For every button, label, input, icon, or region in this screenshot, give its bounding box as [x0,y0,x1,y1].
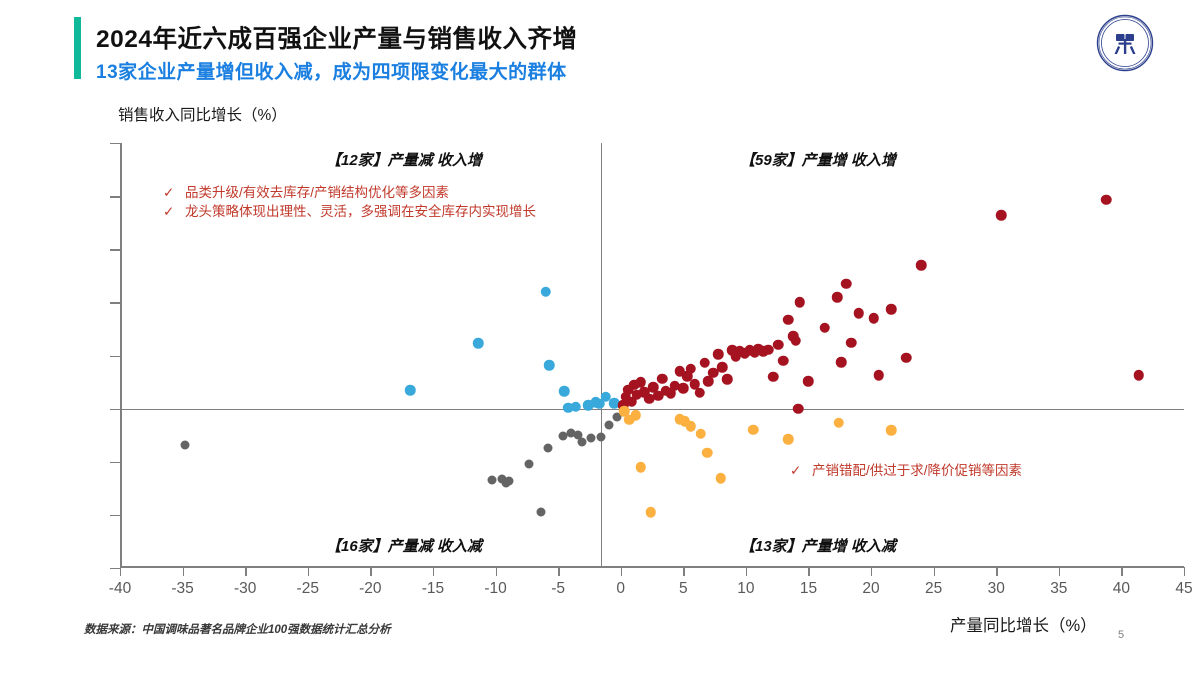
x-axis-title: 产量同比增长（%） [950,612,1097,636]
x-tick-label: 5 [679,580,688,598]
data-point [713,349,724,360]
data-point [901,352,912,363]
data-point [916,260,927,271]
data-point [473,338,484,349]
annotation-line: ✓龙头策略体现出理性、灵活，多强调在安全库存内实现增长 [163,202,536,221]
x-tick [183,567,184,576]
data-point [794,297,805,308]
x-tick-label: -10 [484,580,506,598]
data-point [645,507,656,518]
x-tick-label: 35 [1050,580,1067,598]
y-tick [110,302,120,303]
y-tick [110,462,120,463]
data-point [773,340,784,351]
data-point [702,447,713,458]
x-tick-label: -30 [234,580,256,598]
data-point [630,410,641,421]
annotation-line: ✓品类升级/有效去库存/产销结构优化等多因素 [163,183,536,202]
x-tick [1121,567,1122,576]
x-tick [808,567,809,576]
data-point [768,372,779,383]
x-tick [308,567,309,576]
quadrant-label-top-right: 【59家】产量增 收入增 [740,149,896,170]
x-tick-label: -25 [297,580,319,598]
x-tick-label: 0 [616,580,625,598]
data-point [783,315,794,326]
check-icon: ✓ [163,202,185,221]
data-point [819,323,830,334]
data-point [846,338,857,349]
data-point [717,362,728,373]
zero-horizontal-line [120,409,1184,410]
x-tick [1059,567,1060,576]
x-tick-label: 30 [988,580,1005,598]
x-tick [370,567,371,576]
x-tick-label: -15 [422,580,444,598]
data-point [540,287,551,298]
data-point [657,374,668,385]
x-tick [746,567,747,576]
data-point [722,374,733,385]
data-point [596,433,605,442]
data-point [605,421,614,430]
quadrant-label-bottom-right: 【13家】产量增 收入减 [740,535,896,556]
data-point [886,425,897,436]
check-icon: ✓ [163,183,185,202]
annotation-text: 品类升级/有效去库存/产销结构优化等多因素 [185,185,449,200]
data-point [833,418,844,429]
x-tick [996,567,997,576]
x-tick-label: -20 [359,580,381,598]
title-accent-bar [74,17,81,79]
x-tick-label: -35 [171,580,193,598]
data-point [783,434,794,445]
data-point [763,344,774,355]
y-tick [110,249,120,250]
data-point [487,475,496,484]
data-point [716,473,727,484]
data-point [635,377,646,388]
data-point [525,460,534,469]
x-tick-label: 45 [1175,580,1192,598]
y-tick [110,196,120,197]
data-point [536,507,545,516]
data-point [832,292,843,303]
data-point [181,441,190,450]
x-tick-label: -40 [109,580,131,598]
quadrant-label-top-left: 【12家】产量减 收入增 [326,149,482,170]
data-point [559,386,570,397]
x-tick-label: -5 [551,580,565,598]
annotation-bottom-right: ✓产销错配/供过于求/降价促销等因素 [790,459,1022,479]
x-axis-line [120,566,1184,568]
y-tick [110,356,120,357]
data-point [778,356,789,367]
x-tick [245,567,246,576]
data-point [544,443,553,452]
page-number: 5 [1118,629,1124,641]
data-point [793,403,804,414]
quadrant-label-bottom-left: 【16家】产量减 收入减 [326,535,482,556]
data-point [803,376,814,387]
x-tick [934,567,935,576]
data-point [586,434,595,443]
x-tick-label: 15 [800,580,817,598]
data-point [748,425,759,436]
data-point [686,364,697,375]
data-point [791,335,802,346]
slide-root: 2024年近六成百强企业产量与销售收入齐增 13家企业产量增但收入减，成为四项限… [0,0,1200,675]
x-tick-label: 25 [925,580,942,598]
x-tick [496,567,497,576]
x-tick-label: 40 [1113,580,1130,598]
annotation-top-left: ✓品类升级/有效去库存/产销结构优化等多因素 ✓龙头策略体现出理性、灵活，多强调… [163,183,536,221]
y-tick [110,409,120,410]
data-point [996,210,1007,221]
source-note: 数据来源：中国调味品著名品牌企业100强数据统计汇总分析 [84,621,391,637]
zero-vertical-line [601,143,602,568]
data-point [577,437,586,446]
data-point [686,421,697,432]
x-tick [433,567,434,576]
data-point [868,313,879,324]
data-point [694,387,705,398]
x-tick [683,567,684,576]
y-axis-title: 销售收入同比增长（%） [118,103,287,125]
data-point [1134,370,1145,381]
data-point [570,401,581,412]
company-round-logo [1094,12,1156,74]
data-point [886,304,897,315]
data-point [544,360,555,371]
page-title: 2024年近六成百强企业产量与销售收入齐增 [96,20,578,55]
data-point [841,279,852,290]
data-point [836,357,847,368]
check-icon: ✓ [790,463,812,479]
x-tick [120,567,121,576]
data-point [699,358,710,369]
y-tick [110,143,120,144]
data-point [678,383,689,394]
data-point [635,462,646,473]
data-point [696,428,707,439]
annotation-text: 产销错配/供过于求/降价促销等因素 [812,463,1022,478]
x-tick-label: 20 [862,580,879,598]
data-point [853,308,864,319]
y-axis-line [120,143,122,568]
x-tick [558,567,559,576]
data-point [505,476,514,485]
x-tick-label: 10 [737,580,754,598]
y-tick [110,515,120,516]
data-point [405,385,416,396]
annotation-text: 龙头策略体现出理性、灵活，多强调在安全库存内实现增长 [185,204,536,219]
x-tick [621,567,622,576]
page-subtitle: 13家企业产量增但收入减，成为四项限变化最大的群体 [96,57,567,84]
x-tick [1184,567,1185,576]
data-point [873,370,884,381]
data-point [1101,195,1112,206]
x-tick [871,567,872,576]
y-tick [110,568,120,569]
annotation-line: ✓产销错配/供过于求/降价促销等因素 [790,459,1022,479]
